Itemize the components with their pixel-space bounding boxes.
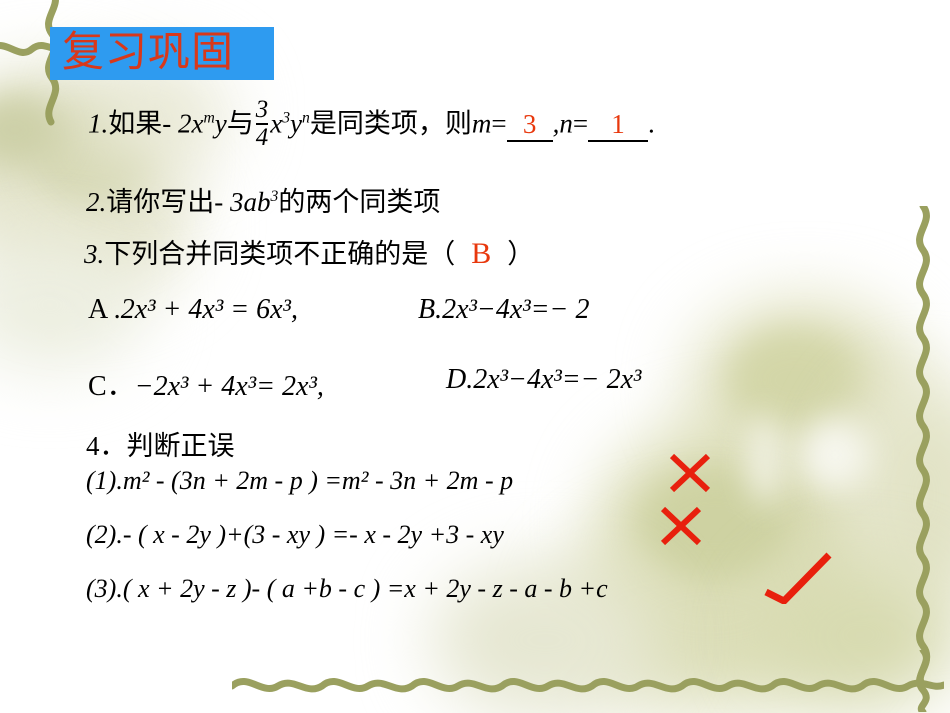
- q2-text-a: 请你写出: [106, 187, 214, 218]
- page-title: 复习巩固: [62, 23, 234, 81]
- question-3: 3.下列合并同类项不正确的是（B）: [84, 232, 534, 271]
- q1-exponent-3: 3: [282, 110, 290, 127]
- q4-item-1: (1).m² - (3n + 2m - p ) =m² - 3n + 2m - …: [86, 466, 513, 496]
- q3-answer: B: [455, 237, 507, 270]
- q1-exponent-n: n: [302, 110, 310, 127]
- q3-text: 下列合并同类项不正确的是（: [104, 239, 455, 270]
- slide-canvas: 复习巩固 1.如果- 2xmy与34x3yn是同类项，则m=3,n=1. 2.请…: [0, 0, 950, 713]
- q2-number: 2.: [86, 187, 106, 217]
- q1-equals-2: =: [573, 109, 588, 139]
- q1-period: .: [648, 109, 655, 139]
- option-c-label: C．: [88, 371, 135, 402]
- q1-var-y: y: [215, 109, 227, 139]
- q1-equals-1: =: [491, 109, 506, 139]
- slide-content: 1.如果- 2xmy与34x3yn是同类项，则m=3,n=1. 2.请你写出- …: [0, 0, 950, 713]
- q4-text: 判断正误: [127, 431, 235, 462]
- q4-item-1-expression: m² - (3n + 2m - p ) =m² - 3n + 2m - p: [123, 466, 513, 495]
- option-c: C．−2x³ + 4x³= 2x³,: [88, 364, 324, 404]
- q1-minus: -: [162, 109, 178, 139]
- q2-minus: -: [214, 187, 230, 217]
- q1-exponent-m: m: [203, 110, 214, 127]
- question-1: 1.如果- 2xmy与34x3yn是同类项，则m=3,n=1.: [88, 100, 655, 153]
- option-a-expression: 2x³ + 4x³ = 6x³,: [121, 294, 298, 325]
- q1-text-with: 与: [227, 109, 254, 140]
- option-d-expression: 2x³−4x³=− 2x³: [473, 364, 641, 395]
- q1-var-y2: y: [290, 109, 302, 139]
- option-d: D.2x³−4x³=− 2x³: [446, 364, 641, 396]
- q1-fraction-three-fourths: 34: [256, 98, 268, 151]
- q4-item-3: (3).( x + 2y - z )- ( a +b - c ) =x + 2y…: [86, 574, 608, 604]
- option-a: A .2x³ + 4x³ = 6x³,: [88, 294, 298, 326]
- title-banner: 复习巩固: [50, 27, 274, 80]
- q2-expression: 3ab: [230, 187, 271, 217]
- option-a-label: A .: [88, 294, 121, 325]
- q4-item-2-label: (2).: [86, 520, 123, 549]
- q1-text-a: 如果: [108, 109, 162, 140]
- q4-number: 4．: [86, 431, 127, 461]
- question-4: 4．判断正误: [86, 424, 235, 463]
- option-b: B.2x³−4x³=− 2: [418, 294, 589, 326]
- q1-answer-n: 1: [588, 109, 648, 142]
- q4-item-3-label: (3).: [86, 574, 123, 603]
- option-c-expression: −2x³ + 4x³= 2x³,: [135, 371, 324, 402]
- q1-number: 1.: [88, 109, 108, 139]
- q1-fraction-numerator: 3: [256, 98, 268, 123]
- q1-text-b: 是同类项，则: [310, 109, 472, 140]
- q1-var-n: n: [559, 109, 573, 139]
- q1-mono-1: 2x: [178, 109, 203, 139]
- q1-answer-m: 3: [507, 109, 553, 142]
- q3-number: 3.: [84, 239, 104, 269]
- q3-close-paren: ）: [507, 239, 534, 270]
- q1-mono-2: x: [270, 109, 282, 139]
- q4-item-1-label: (1).: [86, 466, 123, 495]
- option-d-label: D.: [446, 364, 473, 395]
- q4-item-2: (2).- ( x - 2y )+(3 - xy ) =- x - 2y +3 …: [86, 520, 504, 550]
- option-b-label: B.: [418, 294, 442, 325]
- q1-var-m: m: [472, 109, 492, 139]
- question-2: 2.请你写出- 3ab3的两个同类项: [86, 180, 440, 219]
- q2-text-b: 的两个同类项: [278, 187, 440, 218]
- q4-item-3-expression: ( x + 2y - z )- ( a +b - c ) =x + 2y - z…: [123, 574, 608, 603]
- option-b-expression: 2x³−4x³=− 2: [442, 294, 589, 325]
- q1-fraction-denominator: 4: [256, 123, 268, 151]
- q4-item-2-expression: - ( x - 2y )+(3 - xy ) =- x - 2y +3 - xy: [123, 520, 504, 549]
